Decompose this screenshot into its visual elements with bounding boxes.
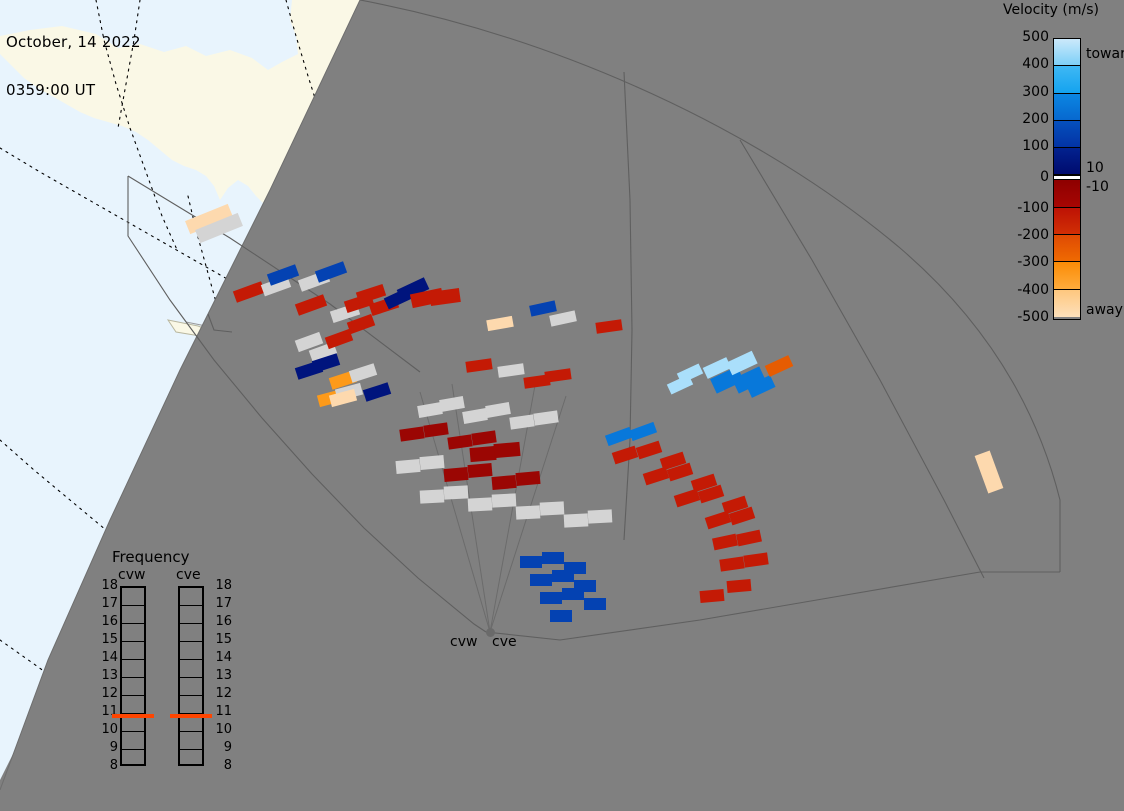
frequency-tick-cve-12: 12: [210, 686, 232, 701]
frequency-tick-cve-10: 10: [210, 722, 232, 737]
velocity-tick--100: -100: [997, 200, 1049, 216]
velocity-colorbar-band-3: [1054, 121, 1080, 148]
velocity-tick--500: -500: [997, 309, 1049, 325]
frequency-tick-cvw-15: 15: [96, 632, 118, 647]
frequency-tick-cvw-14: 14: [96, 650, 118, 665]
frequency-tick-cvw-8: 8: [96, 758, 118, 773]
velocity-cell[interactable]: [612, 446, 639, 465]
velocity-cell[interactable]: [605, 427, 633, 446]
frequency-segment: [180, 588, 202, 606]
velocity-cell[interactable]: [520, 556, 542, 568]
frequency-segment: [180, 642, 202, 660]
velocity-cell[interactable]: [584, 598, 606, 610]
velocity-cell[interactable]: [443, 467, 468, 482]
velocity-cell[interactable]: [516, 505, 541, 519]
velocity-cell[interactable]: [363, 382, 391, 401]
velocity-label-positive-threshold: 10: [1086, 160, 1104, 176]
velocity-tick-500: 500: [997, 29, 1049, 45]
velocity-cell[interactable]: [399, 426, 424, 441]
site-label-cve: cve: [492, 634, 517, 650]
velocity-cell[interactable]: [469, 446, 496, 462]
frequency-tick-cvw-13: 13: [96, 668, 118, 683]
frequency-scale-cvw: [120, 586, 146, 766]
velocity-cell[interactable]: [349, 363, 377, 382]
frequency-segment: [122, 750, 144, 768]
frequency-tick-cvw-16: 16: [96, 614, 118, 629]
velocity-colorbar-band-2: [1054, 94, 1080, 121]
velocity-tick-200: 200: [997, 111, 1049, 127]
site-label-cvw: cvw: [450, 634, 477, 650]
frequency-segment: [180, 732, 202, 750]
velocity-cell[interactable]: [465, 358, 492, 373]
velocity-cell[interactable]: [533, 410, 558, 425]
frequency-tick-cve-8: 8: [210, 758, 232, 773]
velocity-cell[interactable]: [743, 552, 768, 567]
frequency-segment: [122, 678, 144, 696]
velocity-label-away: away: [1086, 302, 1123, 318]
frequency-tick-cve-18: 18: [210, 578, 232, 593]
velocity-tick--200: -200: [997, 227, 1049, 243]
velocity-tick-0: 0: [997, 169, 1049, 185]
frequency-column-header-cve: cve: [176, 567, 201, 583]
velocity-cell[interactable]: [233, 281, 265, 303]
velocity-tick--400: -400: [997, 282, 1049, 298]
velocity-cell[interactable]: [674, 489, 701, 508]
velocity-cell[interactable]: [439, 396, 465, 412]
velocity-cell[interactable]: [562, 588, 584, 600]
frequency-segment: [122, 732, 144, 750]
frequency-segment: [180, 678, 202, 696]
frequency-legend: Frequency cvw cve 1818171716161515141413…: [100, 548, 240, 778]
velocity-cell[interactable]: [491, 475, 516, 490]
velocity-cell[interactable]: [419, 455, 444, 470]
velocity-tick--300: -300: [997, 254, 1049, 270]
velocity-cell[interactable]: [540, 592, 562, 604]
frequency-marker-cvw: [112, 714, 154, 718]
frequency-tick-cvw-10: 10: [96, 722, 118, 737]
frequency-tick-cve-15: 15: [210, 632, 232, 647]
frequency-tick-cve-16: 16: [210, 614, 232, 629]
velocity-cell[interactable]: [486, 316, 514, 331]
frequency-tick-cvw-17: 17: [96, 596, 118, 611]
velocity-cell[interactable]: [530, 574, 552, 586]
frequency-tick-cve-9: 9: [210, 740, 232, 755]
velocity-cell[interactable]: [542, 552, 564, 564]
velocity-cell[interactable]: [552, 570, 574, 582]
velocity-cell[interactable]: [295, 294, 327, 316]
velocity-cell[interactable]: [420, 489, 445, 503]
velocity-cell[interactable]: [540, 501, 565, 515]
velocity-cell[interactable]: [468, 497, 493, 511]
velocity-cell[interactable]: [765, 355, 794, 377]
velocity-cell[interactable]: [719, 556, 744, 571]
velocity-cell[interactable]: [643, 467, 670, 486]
velocity-label-negative-threshold: -10: [1086, 179, 1109, 195]
velocity-colorbar-band-9: [1054, 290, 1080, 317]
velocity-cell[interactable]: [423, 422, 448, 437]
velocity-cell[interactable]: [975, 450, 1004, 493]
velocity-cell[interactable]: [471, 430, 496, 445]
velocity-colorbar-band-5: [1054, 180, 1080, 207]
frequency-legend-title: Frequency: [112, 548, 190, 566]
velocity-colorbar-band-0: [1054, 39, 1080, 66]
velocity-cell[interactable]: [492, 493, 517, 507]
velocity-cell[interactable]: [727, 579, 752, 593]
frequency-segment: [122, 696, 144, 714]
superdarn-fan-plot: cvw cve October, 14 2022 0359:00 UT Velo…: [0, 0, 1124, 811]
velocity-cell[interactable]: [712, 534, 738, 551]
velocity-colorbar-band-8: [1054, 262, 1080, 289]
frequency-segment: [122, 642, 144, 660]
frequency-segment: [180, 606, 202, 624]
velocity-cell[interactable]: [493, 442, 520, 458]
frequency-tick-cvw-18: 18: [96, 578, 118, 593]
velocity-cell[interactable]: [417, 402, 443, 418]
velocity-cell[interactable]: [564, 513, 589, 527]
velocity-cell[interactable]: [447, 434, 472, 449]
frequency-segment: [122, 624, 144, 642]
timestamp-time: 0359:00 UT: [6, 82, 141, 98]
timestamp-date: October, 14 2022: [6, 34, 141, 50]
velocity-colorbar-band-6: [1054, 208, 1080, 235]
velocity-cell[interactable]: [444, 485, 469, 499]
frequency-segment: [180, 696, 202, 714]
frequency-scale-cve: [178, 586, 204, 766]
velocity-tick-100: 100: [997, 138, 1049, 154]
velocity-colorbar-band-1: [1054, 66, 1080, 93]
velocity-cell[interactable]: [315, 261, 347, 283]
velocity-cell[interactable]: [705, 511, 732, 530]
velocity-legend-title: Velocity (m/s): [978, 2, 1124, 18]
velocity-cell[interactable]: [325, 329, 354, 349]
frequency-tick-cve-17: 17: [210, 596, 232, 611]
frequency-segment: [180, 624, 202, 642]
frequency-marker-cve: [170, 714, 212, 718]
velocity-tick-400: 400: [997, 56, 1049, 72]
velocity-cell[interactable]: [467, 463, 492, 478]
frequency-segment: [180, 660, 202, 678]
frequency-tick-cvw-12: 12: [96, 686, 118, 701]
frequency-segment: [122, 660, 144, 678]
velocity-cell[interactable]: [509, 414, 534, 429]
velocity-cell[interactable]: [736, 530, 762, 547]
velocity-colorbar: [1053, 38, 1081, 320]
velocity-cell[interactable]: [595, 319, 622, 334]
frequency-segment: [180, 750, 202, 768]
velocity-cell[interactable]: [529, 300, 557, 316]
velocity-cell[interactable]: [462, 408, 488, 424]
velocity-label-toward: toward: [1086, 46, 1124, 62]
velocity-cell[interactable]: [497, 363, 524, 378]
frequency-tick-cvw-9: 9: [96, 740, 118, 755]
velocity-cell[interactable]: [588, 509, 613, 523]
velocity-tick-300: 300: [997, 84, 1049, 100]
timestamp: October, 14 2022 0359:00 UT: [6, 2, 141, 130]
velocity-cell[interactable]: [544, 368, 571, 383]
velocity-colorbar-band-7: [1054, 235, 1080, 262]
velocity-cell[interactable]: [485, 402, 511, 418]
frequency-column-header-cvw: cvw: [118, 567, 145, 583]
velocity-cell[interactable]: [629, 422, 657, 441]
frequency-segment: [122, 606, 144, 624]
frequency-tick-cve-11: 11: [210, 704, 232, 719]
velocity-cell[interactable]: [515, 471, 540, 486]
frequency-segment: [122, 588, 144, 606]
velocity-cell[interactable]: [395, 459, 420, 474]
velocity-cell[interactable]: [549, 310, 577, 326]
velocity-colorbar-band-4: [1054, 148, 1080, 175]
velocity-cell[interactable]: [636, 441, 663, 460]
velocity-cell[interactable]: [550, 610, 572, 622]
velocity-cell[interactable]: [700, 589, 725, 603]
frequency-tick-cve-14: 14: [210, 650, 232, 665]
frequency-tick-cve-13: 13: [210, 668, 232, 683]
